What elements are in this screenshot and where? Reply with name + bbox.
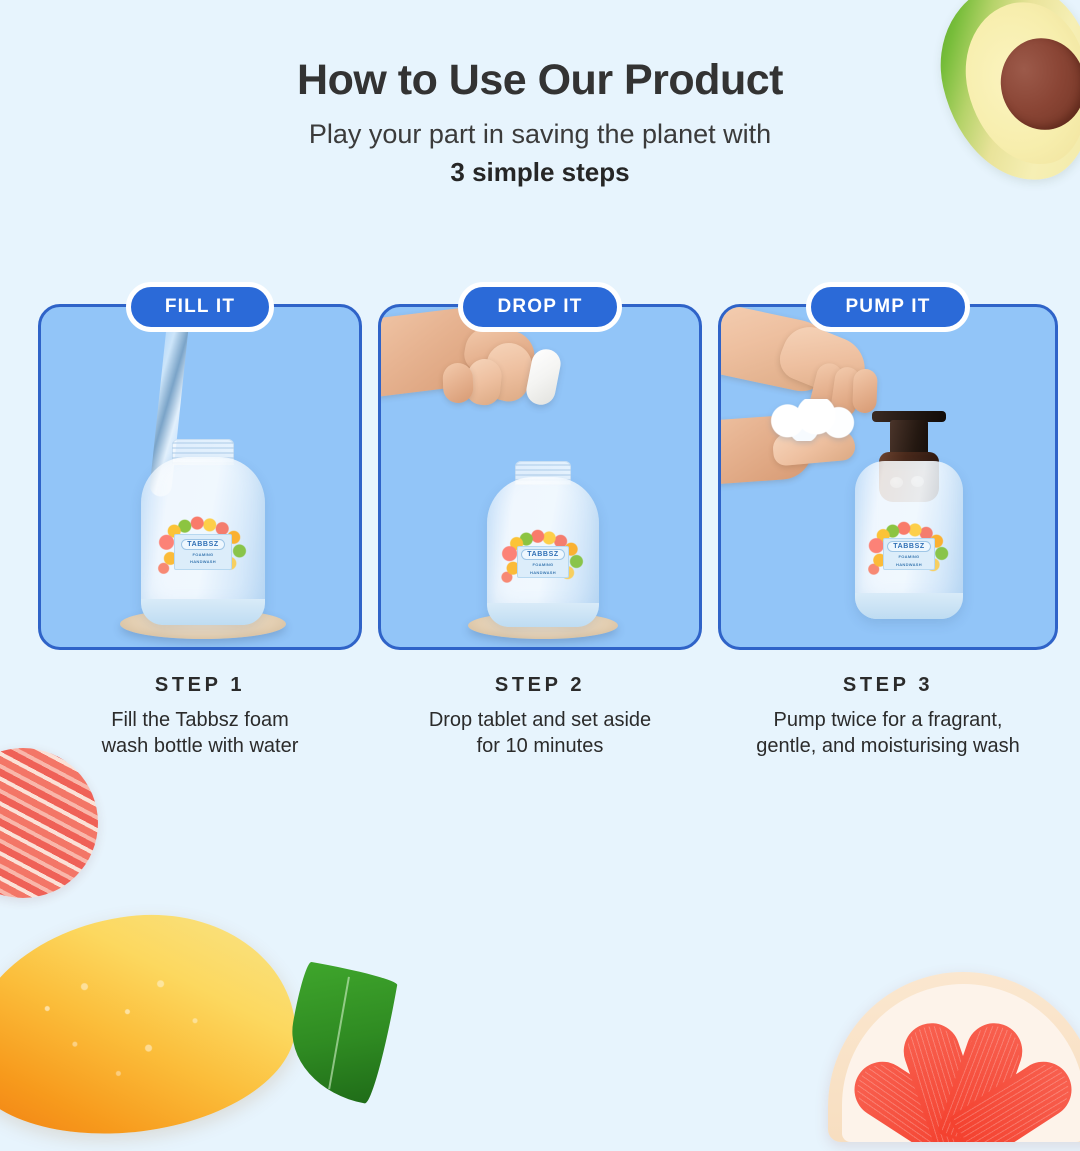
step-image-1: TABBSZ FOAMING HANDWASH <box>38 304 362 650</box>
grapefruit-slice-icon <box>828 972 1080 1142</box>
label-brand: TABBSZ <box>521 549 564 560</box>
label-descriptor-2: HANDWASH <box>530 570 556 575</box>
step-image-3: TABBSZ FOAMING HANDWASH <box>718 304 1058 650</box>
product-bottle-2: TABBSZ FOAMING HANDWASH <box>381 307 702 650</box>
label-panel: TABBSZ FOAMING HANDWASH <box>174 534 232 570</box>
bottle-foot <box>487 603 599 627</box>
badge-pump-it[interactable]: PUMP IT <box>806 282 969 332</box>
watermelon-slice-icon <box>0 748 98 898</box>
step-card-3: PUMP IT <box>718 282 1058 328</box>
label-panel: TABBSZ FOAMING HANDWASH <box>883 538 935 570</box>
bottle-foot <box>855 593 963 619</box>
caption-2-line-1: Drop tablet and set aside <box>429 709 651 731</box>
caption-2: STEP 2 Drop tablet and set aside for 10 … <box>378 674 702 760</box>
badge-drop-it[interactable]: DROP IT <box>458 282 621 332</box>
product-bottle-3: TABBSZ FOAMING HANDWASH <box>755 307 1055 650</box>
caption-1-line-2: wash bottle with water <box>102 735 299 757</box>
badge-wrap-2: DROP IT <box>378 282 702 328</box>
badge-wrap-1: FILL IT <box>38 282 362 328</box>
product-label: TABBSZ FOAMING HANDWASH <box>499 529 587 585</box>
label-descriptor-1: FOAMING <box>192 552 213 557</box>
caption-text-1: Fill the Tabbsz foam wash bottle with wa… <box>38 707 362 760</box>
label-descriptor-1: FOAMING <box>898 554 919 559</box>
step-label-3: STEP 3 <box>718 674 1058 697</box>
step-card-1: FILL IT TABBSZ FOAMING HANDWASH <box>38 282 362 328</box>
product-bottle-1: TABBSZ FOAMING HANDWASH <box>41 307 362 650</box>
caption-3-line-1: Pump twice for a fragrant, <box>774 709 1003 731</box>
caption-2-line-2: for 10 minutes <box>477 735 604 757</box>
caption-3: STEP 3 Pump twice for a fragrant, gentle… <box>718 674 1058 760</box>
page-title: How to Use Our Product <box>0 56 1080 105</box>
mango-icon <box>0 917 294 1132</box>
label-descriptor-2: HANDWASH <box>190 559 216 564</box>
bottle-foot <box>141 599 265 625</box>
caption-1-line-1: Fill the Tabbsz foam <box>111 709 289 731</box>
label-descriptor-1: FOAMING <box>532 562 553 567</box>
step-label-1: STEP 1 <box>38 674 362 697</box>
step-card-2: DROP IT TABBSZ FOA <box>378 282 702 328</box>
green-leaf-icon <box>292 968 388 1098</box>
label-brand: TABBSZ <box>181 539 224 550</box>
subtitle-line-2: 3 simple steps <box>0 157 1080 188</box>
caption-text-2: Drop tablet and set aside for 10 minutes <box>378 707 702 760</box>
label-brand: TABBSZ <box>887 541 930 552</box>
label-descriptor-2: HANDWASH <box>896 562 922 567</box>
caption-text-3: Pump twice for a fragrant, gentle, and m… <box>718 707 1058 760</box>
badge-fill-it[interactable]: FILL IT <box>126 282 274 332</box>
header: How to Use Our Product Play your part in… <box>0 56 1080 188</box>
label-panel: TABBSZ FOAMING HANDWASH <box>517 546 570 578</box>
badge-wrap-3: PUMP IT <box>718 282 1058 328</box>
caption-1: STEP 1 Fill the Tabbsz foam wash bottle … <box>38 674 362 760</box>
caption-3-line-2: gentle, and moisturising wash <box>756 735 1019 757</box>
step-label-2: STEP 2 <box>378 674 702 697</box>
step-image-2: TABBSZ FOAMING HANDWASH <box>378 304 702 650</box>
subtitle-line-1: Play your part in saving the planet with <box>0 119 1080 150</box>
product-label: TABBSZ FOAMING HANDWASH <box>866 521 952 577</box>
product-label: TABBSZ FOAMING HANDWASH <box>155 515 251 577</box>
